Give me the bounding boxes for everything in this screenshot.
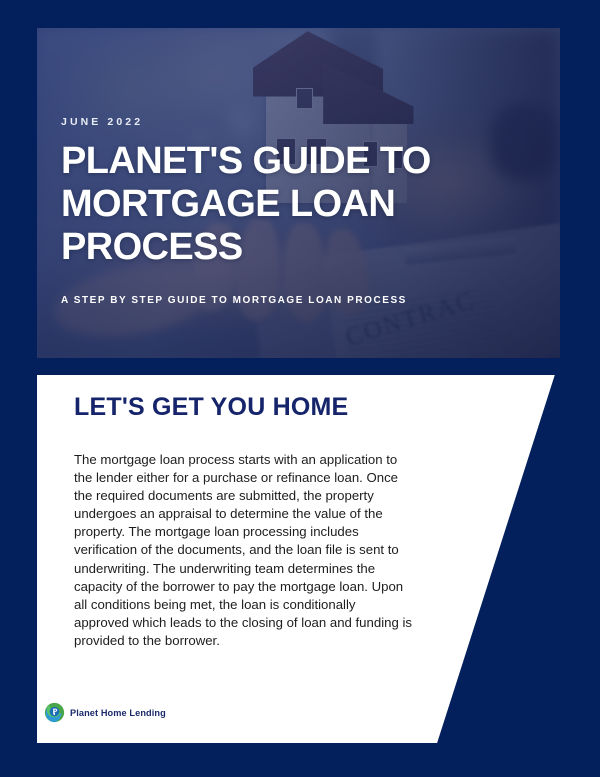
planet-globe-icon <box>44 702 65 723</box>
panel-heading: LET'S GET YOU HOME <box>74 393 348 422</box>
hero-subtitle: A STEP BY STEP GUIDE TO MORTGAGE LOAN PR… <box>61 295 407 306</box>
content-panel: LET'S GET YOU HOME The mortgage loan pro… <box>37 375 560 743</box>
logo-wordmark: Planet Home Lending <box>70 708 166 718</box>
brand-logo: Planet Home Lending <box>44 702 166 723</box>
hero-banner: CONTRAC <box>37 28 560 358</box>
panel-body-text: The mortgage loan process starts with an… <box>74 451 414 650</box>
flyer-page: CONTRAC <box>0 0 600 777</box>
hero-title: PLANET'S GUIDE TO MORTGAGE LOAN PROCESS <box>61 140 491 269</box>
hero-text-block: JUNE 2022 PLANET'S GUIDE TO MORTGAGE LOA… <box>61 28 550 358</box>
hero-date: JUNE 2022 <box>61 116 143 128</box>
